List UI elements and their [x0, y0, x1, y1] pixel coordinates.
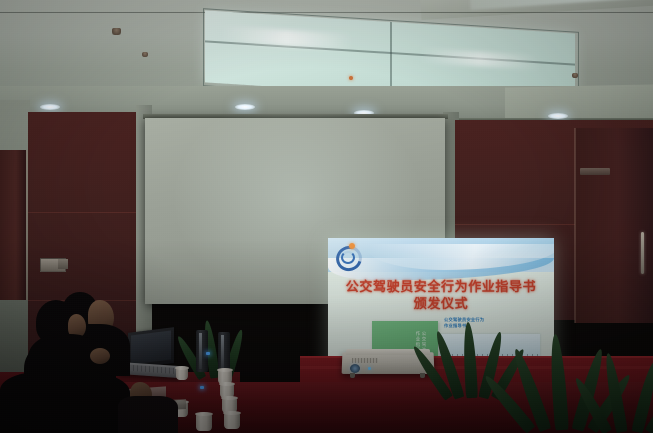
conference-room-photo: 公交驾驶员安全行为作业指导书 颁发仪式 公交驾驶员安全行为作业指导书 公交驾驶员…: [0, 0, 653, 433]
slide-header-ribbon: [328, 238, 554, 272]
panel-seam: [28, 212, 148, 213]
cup-rim: [219, 382, 235, 386]
device-led-icon: [200, 386, 204, 389]
projector-foot: [350, 373, 355, 378]
thermos-flask[interactable]: [196, 330, 208, 372]
light-panel-divider: [390, 22, 392, 94]
slide-title-line1: 公交驾驶员安全行为作业指导书: [346, 280, 536, 295]
door-sign: [580, 168, 610, 175]
projection-screen: 公交驾驶员安全行为作业指导书 颁发仪式 公交驾驶员安全行为作业指导书 公交驾驶员…: [145, 118, 445, 304]
door-left[interactable]: [0, 150, 26, 300]
logo-inner-ring: [341, 251, 355, 264]
plant-leaf: [462, 322, 478, 399]
thermos-led-icon: [206, 352, 210, 355]
slide-title-line2: 颁发仪式: [328, 296, 554, 313]
sprinkler-icon: [112, 28, 121, 35]
sprinkler-icon: [142, 52, 148, 57]
potted-plant: [600, 342, 653, 432]
cup-rim: [195, 412, 213, 416]
projector-vent: [352, 358, 378, 363]
sprinkler-icon: [572, 73, 578, 78]
door-frame: [26, 150, 28, 300]
projector-foot: [420, 373, 425, 378]
cup-rim: [175, 366, 189, 370]
thermos-highlight: [221, 335, 224, 370]
paper-cup[interactable]: [196, 414, 212, 431]
attendee-hand: [90, 348, 110, 364]
laptop-display: [131, 331, 171, 365]
cup-rim: [217, 368, 233, 372]
smoke-detector-icon: [349, 76, 353, 80]
paper-cup[interactable]: [224, 413, 240, 429]
cup-rim: [223, 411, 241, 415]
ceiling-seam: [0, 12, 653, 13]
slide-title: 公交驾驶员安全行为作业指导书 颁发仪式: [328, 279, 554, 313]
attendee-body: [0, 372, 130, 433]
logo-dot: [349, 243, 355, 249]
door-handle[interactable]: [641, 232, 644, 274]
thermos-highlight: [199, 333, 202, 369]
projector-lens: [350, 364, 360, 373]
downlight-icon: [235, 104, 255, 110]
plant-leaf: [548, 334, 569, 431]
company-logo-icon: [336, 243, 360, 267]
downlight-icon: [548, 113, 568, 119]
downlight-icon: [40, 104, 60, 110]
door-right[interactable]: [575, 128, 653, 323]
projector-led-icon: [368, 367, 371, 370]
cup-rim: [221, 396, 238, 400]
door-frame: [574, 128, 576, 323]
power-outlet-plate[interactable]: [58, 259, 68, 269]
attendee-shoulder: [118, 396, 178, 433]
